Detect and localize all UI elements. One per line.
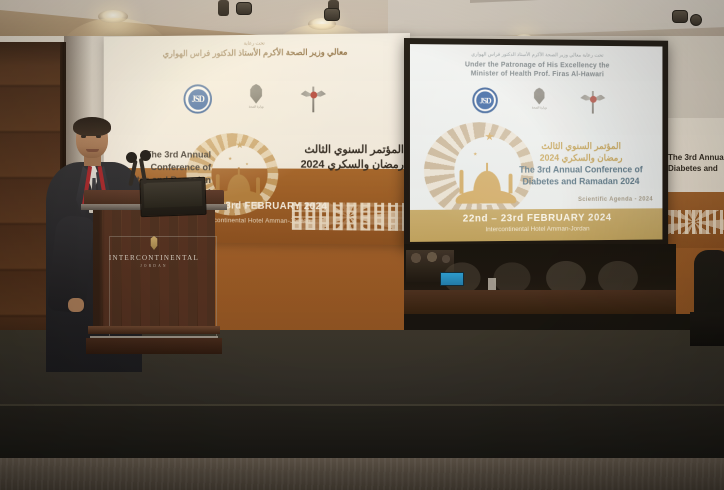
crest-caption: وزارة الصحة	[532, 105, 547, 109]
ceiling-spotlight	[218, 0, 229, 16]
podium-plinth	[86, 338, 222, 354]
speaker-hand	[68, 298, 84, 312]
projection-screen-frame: تحت رعاية معالي وزير الصحة الأكرم الأستا…	[404, 38, 668, 248]
ceiling-spotlight-head	[690, 14, 702, 26]
crest-caption: وزارة الصحة	[249, 105, 264, 109]
backdrop-title-arabic-line1: المؤتمر السنوي الثالث	[267, 143, 404, 158]
jsd-emblem-icon: JSD	[184, 84, 213, 113]
microphone-head-left	[126, 152, 137, 163]
slide-patronage-arabic: تحت رعاية معالي وزير الصحة الأكرم الأستا…	[410, 51, 662, 59]
ceiling-spotlight-head	[236, 2, 252, 15]
slide-title-english: The 3rd Annual Conference of Diabetes an…	[505, 163, 657, 187]
conference-room-scene: تحت رعاية معالي وزير الصحة الأكرم الأستا…	[0, 0, 724, 490]
podium-base-trim	[88, 326, 220, 334]
speaker-eye-right	[96, 135, 101, 138]
slide-title-arabic: المؤتمر السنوي الثالث رمضان والسكري 2024	[509, 140, 653, 164]
ceiling-spotlight-head	[324, 8, 340, 21]
panel-microphone	[488, 278, 496, 290]
crest-shape	[248, 84, 264, 104]
intercontinental-crest-icon	[149, 236, 160, 250]
panel-table-skirt	[404, 290, 676, 314]
podium-brand-logo: INTERCONTINENTAL JORDAN	[93, 236, 215, 268]
jsd-emblem-text: JSD	[192, 94, 204, 104]
confidence-monitor	[139, 177, 206, 217]
stage-chair	[694, 250, 724, 346]
caduceus-emblem-icon	[580, 88, 602, 113]
mosque-base	[456, 189, 517, 203]
ministry-of-health-crest-icon: وزارة الصحة	[245, 84, 268, 114]
stage-platform-face	[0, 406, 724, 460]
backdrop-title-arabic-line2: رمضان والسكري 2024	[267, 158, 404, 173]
panel-laptop-screen	[440, 272, 464, 286]
conference-backdrop-right-panel: The 3rd Annual Diabetes and	[664, 118, 724, 248]
slide-agenda-label: Scientific Agenda - 2024	[578, 197, 653, 203]
caduceus-center	[589, 95, 596, 102]
slide-title-arabic-line2: رمضان والسكري 2024	[509, 152, 653, 164]
caduceus-rod	[312, 87, 314, 113]
mosque-dome	[473, 171, 500, 192]
slide-patronage-english: Under the Patronage of His Excellency th…	[410, 60, 662, 80]
speaker-hair	[73, 117, 111, 136]
caduceus-emblem-icon	[301, 85, 326, 113]
slide-title-english-line2: Diabetes and Ramadan 2024	[505, 175, 657, 187]
backdrop-title-arabic: المؤتمر السنوي الثالث رمضان والسكري 2024	[267, 143, 404, 173]
podium-brand-name: INTERCONTINENTAL	[93, 254, 215, 262]
geometric-border-pattern	[664, 210, 724, 234]
slide-venue: Intercontinental Hotel Amman-Jordan	[410, 225, 662, 234]
ceiling-spotlight-head	[672, 10, 688, 23]
backdrop-patronage-block: تحت رعاية معالي وزير الصحة الأكرم الأستا…	[104, 39, 410, 60]
slide-patronage-english-line2: Minister of Health Prof. Firas Al-Hawari	[410, 69, 662, 80]
podium-brand-sub: JORDAN	[93, 264, 215, 268]
jsd-emblem-icon: JSD	[472, 87, 498, 113]
backdrop-right-title-line1: The 3rd Annual	[668, 152, 724, 163]
slide-title-english-line1: The 3rd Annual Conference of	[505, 163, 657, 175]
speaker-eye-left	[81, 135, 86, 138]
backdrop-right-title-line2: Diabetes and	[668, 163, 724, 174]
backdrop-right-title: The 3rd Annual Diabetes and	[668, 152, 724, 174]
slide-title-arabic-line1: المؤتمر السنوي الثالث	[509, 140, 653, 152]
ministry-of-health-crest-icon: وزارة الصحة	[529, 88, 549, 114]
slide-date: 22nd – 23rd FEBRUARY 2024	[410, 212, 662, 225]
projected-slide: تحت رعاية معالي وزير الصحة الأكرم الأستا…	[410, 44, 662, 242]
minaret-left	[460, 170, 464, 194]
caduceus-center	[310, 92, 317, 99]
ceiling-downlight	[98, 10, 128, 23]
podium-front-panel: INTERCONTINENTAL JORDAN	[93, 210, 215, 328]
slide-logo-row: JSD وزارة الصحة	[410, 87, 662, 114]
floor-carpet	[0, 458, 724, 490]
slide-bottom-band: 22nd – 23rd FEBRUARY 2024 Intercontinent…	[410, 208, 662, 242]
crest-shape	[532, 88, 547, 105]
speaker-mouth	[86, 149, 99, 152]
jsd-emblem-text: JSD	[480, 96, 491, 105]
backdrop-logo-row: JSD وزارة الصحة	[104, 83, 410, 114]
minaret-right	[256, 177, 260, 194]
backdrop-patronage-main: معالي وزير الصحة الأكرم الأستاذ الدكتور …	[104, 46, 410, 60]
microphone-head-right	[140, 150, 151, 161]
